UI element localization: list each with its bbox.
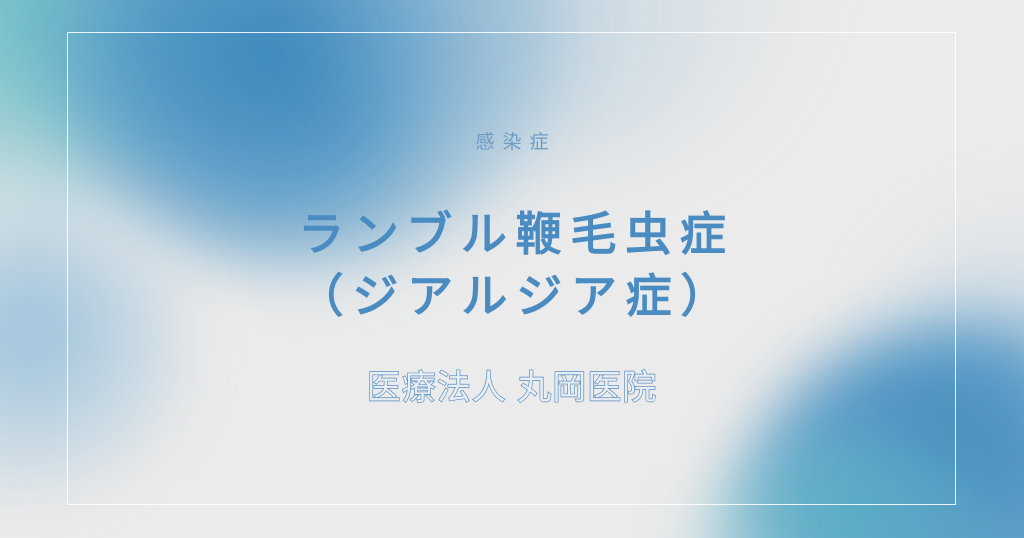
organization-name: 医療法人 丸岡医院 (367, 371, 658, 405)
category-label: 感染症 (468, 133, 557, 152)
page-title: ランブル鞭毛虫症 （ジアルジア症） (289, 204, 735, 326)
slide-content: 感染症 ランブル鞭毛虫症 （ジアルジア症） 医療法人 丸岡医院 (0, 0, 1024, 538)
title-slide: 感染症 ランブル鞭毛虫症 （ジアルジア症） 医療法人 丸岡医院 (0, 0, 1024, 538)
page-title-line-1: ランブル鞭毛虫症 (289, 204, 735, 265)
page-title-line-2: （ジアルジア症） (289, 266, 735, 327)
